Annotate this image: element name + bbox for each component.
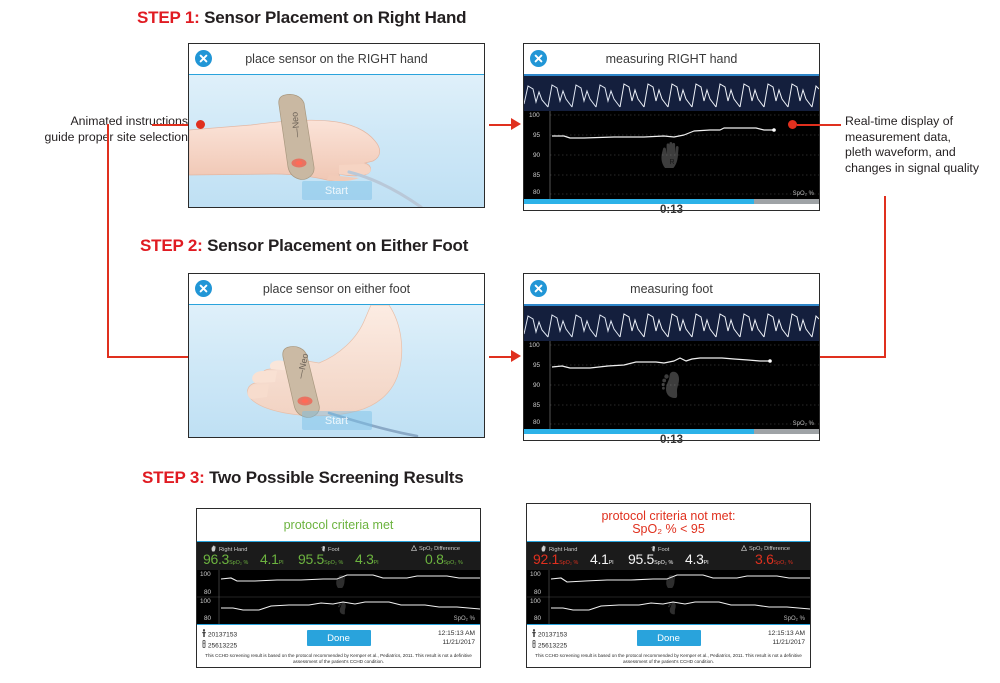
metric-right-hand-spo2: 96.3SpO₂ % bbox=[203, 551, 248, 569]
foot-icon bbox=[667, 601, 678, 620]
divider bbox=[197, 624, 480, 625]
result-trend-charts-pass: 100 80 100 80 SpO₂ % bbox=[197, 570, 480, 624]
step-3-number: STEP 3: bbox=[142, 468, 205, 487]
step-2-number: STEP 2: bbox=[140, 236, 203, 255]
hand-icon: R bbox=[659, 141, 685, 174]
metric-right-hand-pi: 4.1PI bbox=[260, 551, 284, 569]
result-banner-line1: protocol criteria met bbox=[284, 519, 394, 532]
hand-measuring-screen[interactable]: measuring RIGHT hand 100 95 9 bbox=[523, 43, 820, 211]
result-footer-pass: 20137153 25613225 Done 12:15:13 AM 11/21… bbox=[197, 629, 480, 651]
metric-unit: SpO₂ % bbox=[229, 560, 248, 566]
flow-arrow-head bbox=[511, 350, 521, 362]
metric-value: 95.5 bbox=[298, 551, 324, 567]
metric-unit: SpO₂ % bbox=[444, 560, 463, 566]
foot-measuring-title: measuring foot bbox=[524, 274, 819, 304]
axis-label-95: 95 bbox=[533, 132, 540, 139]
hand-icon bbox=[335, 574, 348, 594]
result-timestamp: 12:15:13 AM 11/21/2017 bbox=[438, 629, 475, 647]
svg-text:R: R bbox=[669, 159, 674, 166]
metrics-strip-pass: Right Hand 96.3SpO₂ % 4.1PI Foot bbox=[197, 542, 480, 570]
connector-line-vertical-right bbox=[884, 196, 886, 358]
anchor-dot-hand-measuring bbox=[788, 120, 797, 129]
chart-axis-100-bottom: 100 bbox=[530, 598, 541, 605]
connector-line bbox=[152, 124, 188, 126]
axis-label-80: 80 bbox=[533, 189, 540, 196]
patient-identifiers: 20137153 25613225 bbox=[202, 629, 237, 651]
foot-icon bbox=[337, 601, 348, 620]
delta-icon bbox=[741, 545, 747, 553]
spo2-unit-label: SpO₂ % bbox=[793, 191, 814, 197]
metric-foot-pi: 4.3PI bbox=[355, 551, 379, 569]
foot-instruction-title: place sensor on either foot bbox=[189, 274, 484, 304]
hand-measuring-title: measuring RIGHT hand bbox=[524, 44, 819, 74]
metric-spo2-difference: 3.6SpO₂ % bbox=[755, 551, 793, 569]
result-disclaimer: This CCHD screening result is based on t… bbox=[533, 653, 804, 665]
chart-axis-100-top: 100 bbox=[530, 571, 541, 578]
metric-unit: SpO₂ % bbox=[324, 560, 343, 566]
result-timestamp: 12:15:13 AM 11/21/2017 bbox=[768, 629, 805, 647]
chart-axis-100-top: 100 bbox=[200, 571, 211, 578]
axis-label-95: 95 bbox=[533, 362, 540, 369]
result-banner-line1: protocol criteria not met: bbox=[601, 510, 735, 523]
result-date: 11/21/2017 bbox=[438, 638, 475, 647]
step-1-heading: STEP 1: Sensor Placement on Right Hand bbox=[137, 8, 466, 28]
right-annotation-line4: changes in signal quality bbox=[845, 161, 1000, 177]
axis-label-85: 85 bbox=[533, 172, 540, 179]
axis-label-90: 90 bbox=[533, 152, 540, 159]
measurement-timer: 0:13 bbox=[524, 434, 819, 446]
left-annotation-line2: guide proper site selection bbox=[8, 130, 188, 146]
delta-icon bbox=[411, 545, 417, 553]
right-annotation-line1: Real-time display of bbox=[845, 114, 1000, 130]
right-annotation-line3: pleth waveform, and bbox=[845, 145, 1000, 161]
flow-arrow-head bbox=[511, 118, 521, 130]
hand-instruction-title: place sensor on the RIGHT hand bbox=[189, 44, 484, 74]
patient-id: 20137153 bbox=[208, 631, 237, 638]
sensor-icon bbox=[532, 640, 536, 651]
metric-right-hand-spo2: 92.1SpO₂ % bbox=[533, 551, 578, 569]
metric-unit: PI bbox=[279, 560, 284, 566]
metric-value: 96.3 bbox=[203, 551, 229, 567]
sensor-id: 25613225 bbox=[208, 642, 237, 649]
hand-trend-chart: 100 95 90 85 80 SpO₂ % R bbox=[524, 111, 819, 199]
metric-unit: PI bbox=[609, 560, 614, 566]
metric-value: 4.1 bbox=[590, 551, 609, 567]
step-3-heading: STEP 3: Two Possible Screening Results bbox=[142, 468, 464, 488]
metric-unit: PI bbox=[704, 560, 709, 566]
result-screen-criteria-met[interactable]: protocol criteria met Right Hand 96.3SpO… bbox=[196, 508, 481, 668]
foot-instruction-screen[interactable]: place sensor on either foot —Neo bbox=[188, 273, 485, 438]
metric-unit: SpO₂ % bbox=[774, 560, 793, 566]
spo2-unit-label: SpO₂ % bbox=[784, 616, 805, 622]
patient-id-row: 20137153 bbox=[532, 629, 567, 640]
axis-label-90: 90 bbox=[533, 382, 540, 389]
metrics-strip-fail: Right Hand 92.1SpO₂ % 4.1PI Foot bbox=[527, 542, 810, 570]
foot-measuring-screen[interactable]: measuring foot 100 95 90 85 bbox=[523, 273, 820, 441]
done-button[interactable]: Done bbox=[307, 630, 371, 646]
spo2-unit-label: SpO₂ % bbox=[454, 616, 475, 622]
axis-label-100: 100 bbox=[529, 342, 540, 349]
connector-line bbox=[107, 356, 198, 358]
metric-value: 4.1 bbox=[260, 551, 279, 567]
left-annotation-line1: Animated instructions bbox=[8, 114, 188, 130]
chart-axis-80-bottom: 80 bbox=[204, 615, 211, 622]
step-2-heading: STEP 2: Sensor Placement on Either Foot bbox=[140, 236, 468, 256]
metric-spo2-difference: 0.8SpO₂ % bbox=[425, 551, 463, 569]
done-button[interactable]: Done bbox=[637, 630, 701, 646]
result-banner-line2: SpO₂ % < 95 bbox=[632, 523, 705, 536]
flow-arrow-line bbox=[489, 356, 513, 358]
patient-identifiers: 20137153 25613225 bbox=[532, 629, 567, 651]
axis-label-100: 100 bbox=[529, 112, 540, 119]
metric-value: 4.3 bbox=[685, 551, 704, 567]
metric-value: 95.5 bbox=[628, 551, 654, 567]
result-banner-fail: protocol criteria not met: SpO₂ % < 95 bbox=[527, 504, 810, 541]
right-annotation-line2: measurement data, bbox=[845, 130, 1000, 146]
foot-icon bbox=[660, 369, 684, 404]
metric-unit: SpO₂ % bbox=[654, 560, 673, 566]
result-time: 12:15:13 AM bbox=[768, 629, 805, 638]
hand-icon bbox=[665, 574, 678, 594]
measurement-timer: 0:13 bbox=[524, 204, 819, 216]
patient-id: 20137153 bbox=[538, 631, 567, 638]
sensor-id-row: 25613225 bbox=[532, 640, 567, 651]
hand-instruction-titlebar: place sensor on the RIGHT hand bbox=[189, 44, 484, 74]
patient-id-row: 20137153 bbox=[202, 629, 237, 640]
metric-right-hand-pi: 4.1PI bbox=[590, 551, 614, 569]
anchor-dot-hand-instruction bbox=[196, 120, 205, 129]
hand-instruction-screen[interactable]: place sensor on the RIGHT hand bbox=[188, 43, 485, 208]
pleth-waveform bbox=[524, 76, 819, 111]
chart-axis-100-bottom: 100 bbox=[200, 598, 211, 605]
metric-foot-spo2: 95.5SpO₂ % bbox=[628, 551, 673, 569]
result-date: 11/21/2017 bbox=[768, 638, 805, 647]
connector-line bbox=[797, 124, 841, 126]
foot-instruction-titlebar: place sensor on either foot bbox=[189, 274, 484, 304]
right-annotation: Real-time display of measurement data, p… bbox=[845, 114, 1000, 176]
chart-axis-80-top: 80 bbox=[534, 589, 541, 596]
start-button[interactable]: Start bbox=[302, 411, 372, 430]
foot-measuring-titlebar: measuring foot bbox=[524, 274, 819, 304]
result-trend-charts-fail: 100 80 100 80 SpO₂ % bbox=[527, 570, 810, 624]
result-banner-pass: protocol criteria met bbox=[197, 509, 480, 541]
metric-foot-pi: 4.3PI bbox=[685, 551, 709, 569]
chart-axis-80-bottom: 80 bbox=[534, 615, 541, 622]
metric-foot-spo2: 95.5SpO₂ % bbox=[298, 551, 343, 569]
sensor-id: 25613225 bbox=[538, 642, 567, 649]
metric-value: 92.1 bbox=[533, 551, 559, 567]
result-time: 12:15:13 AM bbox=[438, 629, 475, 638]
result-screen-criteria-not-met[interactable]: protocol criteria not met: SpO₂ % < 95 R… bbox=[526, 503, 811, 668]
metric-value: 4.3 bbox=[355, 551, 374, 567]
metric-value: 3.6 bbox=[755, 551, 774, 567]
metric-unit: PI bbox=[374, 560, 379, 566]
patient-icon bbox=[532, 629, 536, 640]
hand-measuring-titlebar: measuring RIGHT hand bbox=[524, 44, 819, 74]
chart-axis-80-top: 80 bbox=[204, 589, 211, 596]
connector-line-vertical-left bbox=[107, 124, 109, 358]
patient-icon bbox=[202, 629, 206, 640]
infographic-canvas: STEP 1: Sensor Placement on Right Hand p… bbox=[0, 0, 1000, 683]
result-footer-fail: 20137153 25613225 Done 12:15:13 AM 11/21… bbox=[527, 629, 810, 651]
sensor-icon bbox=[202, 640, 206, 651]
step-2-title: Sensor Placement on Either Foot bbox=[207, 236, 468, 255]
spo2-unit-label: SpO₂ % bbox=[793, 421, 814, 427]
step-1-title: Sensor Placement on Right Hand bbox=[204, 8, 466, 27]
step-1-number: STEP 1: bbox=[137, 8, 200, 27]
sensor-id-row: 25613225 bbox=[202, 640, 237, 651]
divider bbox=[527, 624, 810, 625]
metric-unit: SpO₂ % bbox=[559, 560, 578, 566]
foot-trend-chart: 100 95 90 85 80 SpO₂ % bbox=[524, 341, 819, 429]
left-annotation-step1: Animated instructions guide proper site … bbox=[8, 114, 188, 145]
flow-arrow-line bbox=[489, 124, 513, 126]
result-disclaimer: This CCHD screening result is based on t… bbox=[203, 653, 474, 665]
metric-value: 0.8 bbox=[425, 551, 444, 567]
axis-label-85: 85 bbox=[533, 402, 540, 409]
axis-label-80: 80 bbox=[533, 419, 540, 426]
step-3-title: Two Possible Screening Results bbox=[209, 468, 463, 487]
pleth-waveform bbox=[524, 306, 819, 341]
start-button[interactable]: Start bbox=[302, 181, 372, 200]
